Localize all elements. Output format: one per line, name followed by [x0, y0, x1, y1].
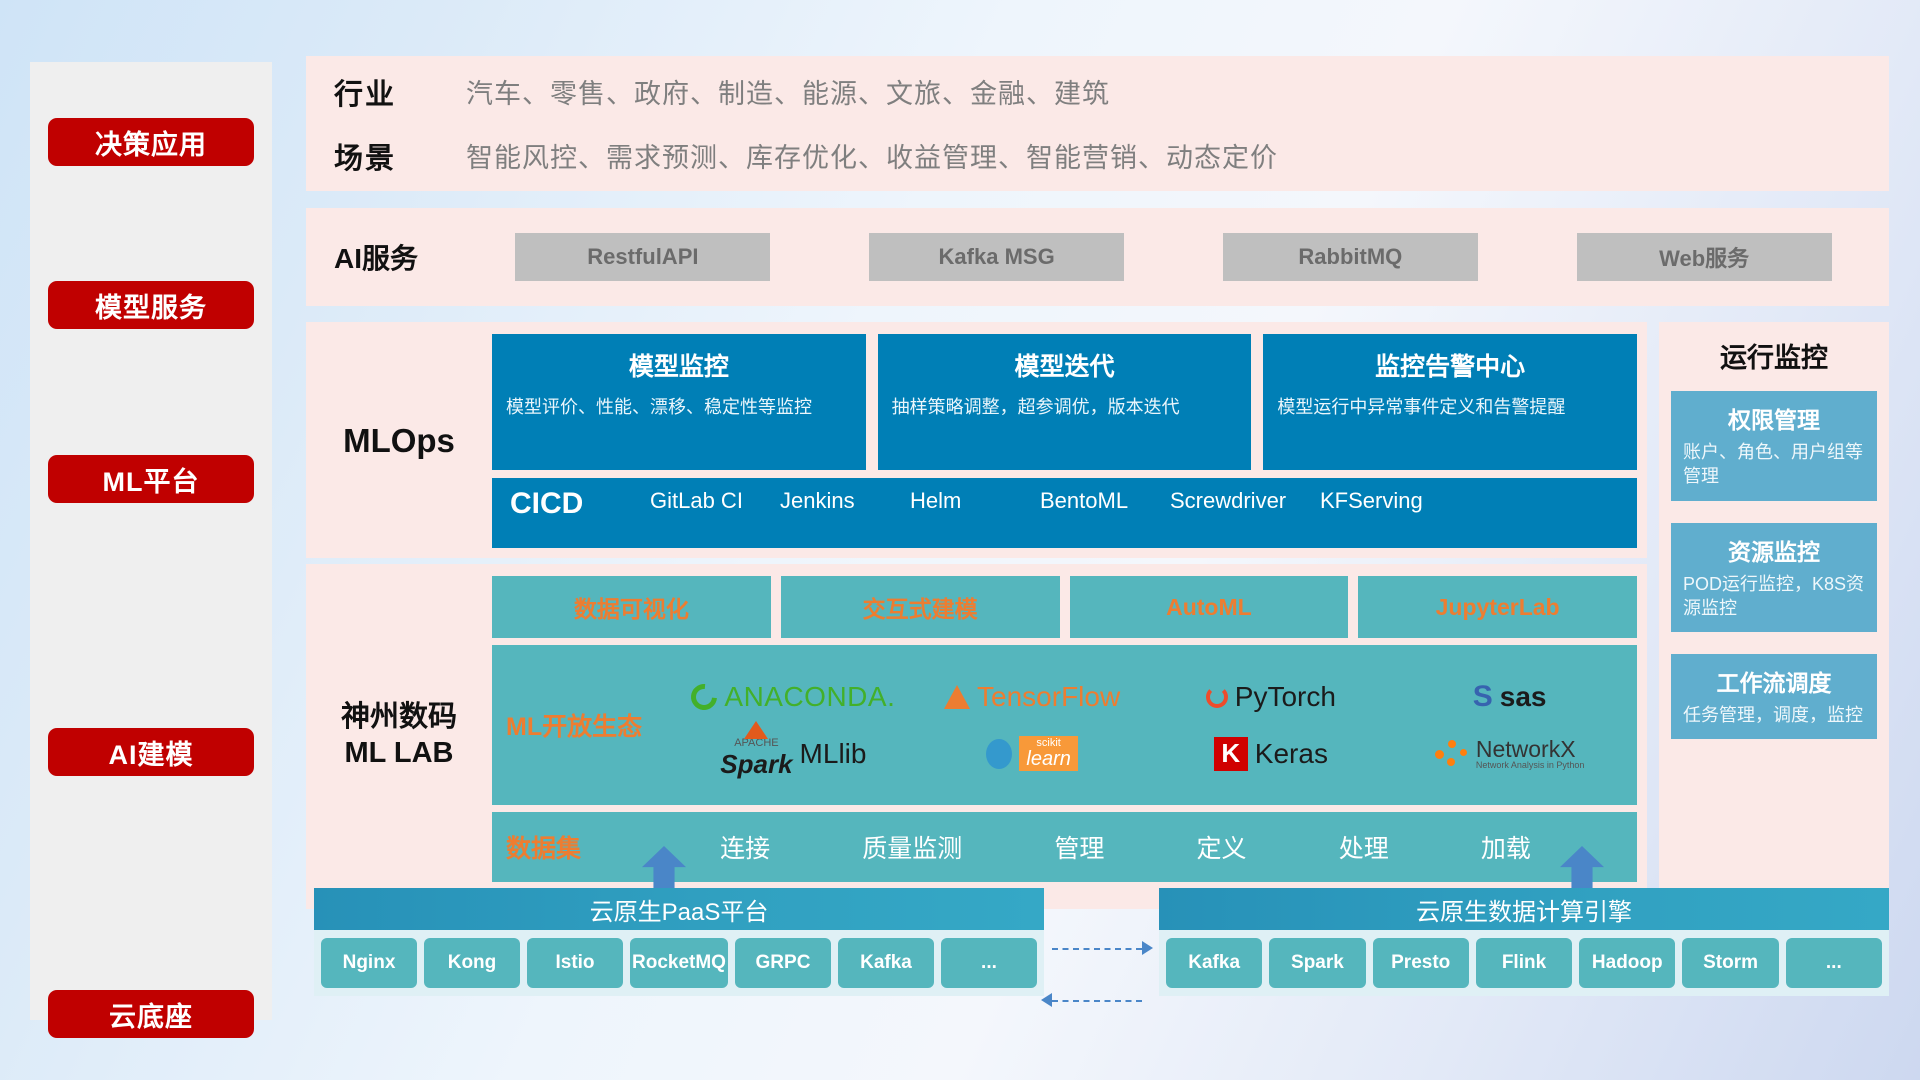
- spark-wordmark: APACHE Spark: [720, 727, 792, 780]
- monitor-card-resource[interactable]: 资源监控 POD运行监控，K8S资源监控: [1671, 523, 1877, 633]
- ml-ecosystem-panel: ML开放生态 ANACONDA. TensorFlow PyTorch: [492, 645, 1637, 805]
- monitor-card-desc: 任务管理，调度，监控: [1683, 703, 1865, 727]
- ml-lab-tab-automl[interactable]: AutoML: [1070, 576, 1349, 638]
- dataset-item-list: 连接 质量监测 管理 定义 处理 加载: [674, 829, 1637, 865]
- ml-lab-tab-data-visualization[interactable]: 数据可视化: [492, 576, 771, 638]
- rail-label-ml-platform[interactable]: ML平台: [48, 455, 254, 503]
- cloud-chip-kafka[interactable]: Kafka: [838, 938, 934, 988]
- dataset-label: 数据集: [506, 829, 674, 865]
- spark-mllib-logo: APACHE Spark MLlib: [720, 727, 866, 780]
- spark-star-icon: [744, 721, 768, 739]
- cicd-item-screwdriver[interactable]: Screwdriver: [1166, 488, 1316, 513]
- mlops-card-title: 监控告警中心: [1277, 347, 1623, 383]
- cloud-chip-kong[interactable]: Kong: [424, 938, 520, 988]
- mlops-card-title: 模型监控: [506, 347, 852, 383]
- engine-chip-storm[interactable]: Storm: [1682, 938, 1778, 988]
- keras-k-icon: K: [1214, 737, 1248, 771]
- ai-service-band: AI服务 RestfulAPI Kafka MSG RabbitMQ Web服务: [306, 208, 1889, 306]
- dataset-item-quality-monitor[interactable]: 质量监测: [862, 829, 962, 865]
- networkx-graph-icon: [1435, 740, 1469, 768]
- networkx-wordmark: NetworkX Network Analysis in Python: [1476, 738, 1585, 770]
- mlops-card-desc: 模型评价、性能、漂移、稳定性等监控: [506, 395, 852, 420]
- ai-service-chip-list: RestfulAPI Kafka MSG RabbitMQ Web服务: [466, 233, 1889, 281]
- engine-chip-flink[interactable]: Flink: [1476, 938, 1572, 988]
- left-rail: 决策应用 模型服务 ML平台 AI建模 云底座: [30, 62, 272, 1020]
- dataset-item-define[interactable]: 定义: [1197, 829, 1247, 865]
- ai-service-chip-restfulapi[interactable]: RestfulAPI: [515, 233, 770, 281]
- mlops-content: 模型监控 模型评价、性能、漂移、稳定性等监控 模型迭代 抽样策略调整，超参调优，…: [492, 334, 1637, 548]
- rail-label-cloud-base[interactable]: 云底座: [48, 990, 254, 1038]
- mlops-card-list: 模型监控 模型评价、性能、漂移、稳定性等监控 模型迭代 抽样策略调整，超参调优，…: [492, 334, 1637, 470]
- cloud-paas-chip-list: Nginx Kong Istio RocketMQ GRPC Kafka ...: [314, 930, 1044, 996]
- rail-label-model-service-text: 模型服务: [95, 286, 207, 325]
- anaconda-logo-text: ANACONDA.: [724, 681, 895, 713]
- keras-logo: K Keras: [1214, 737, 1328, 771]
- scenario-value: 智能风控、需求预测、库存优化、收益管理、智能营销、动态定价: [466, 136, 1278, 175]
- cicd-item-gitlab-ci[interactable]: GitLab CI: [646, 488, 776, 513]
- monitor-card-title: 资源监控: [1683, 533, 1865, 567]
- monitor-card-title: 权限管理: [1683, 401, 1865, 435]
- sas-logo: S sas: [1473, 680, 1547, 714]
- cicd-item-bentoml[interactable]: BentoML: [1036, 488, 1166, 513]
- networkx-logo: NetworkX Network Analysis in Python: [1435, 738, 1585, 770]
- anaconda-ring-icon: [686, 678, 723, 715]
- ml-ecosystem-label: ML开放生态: [506, 707, 674, 743]
- pytorch-logo-text: PyTorch: [1235, 681, 1336, 713]
- anaconda-logo: ANACONDA.: [691, 681, 895, 713]
- rail-label-cloud-base-text: 云底座: [109, 995, 193, 1034]
- monitor-card-workflow[interactable]: 工作流调度 任务管理，调度，监控: [1671, 654, 1877, 739]
- mlops-card-desc: 模型运行中异常事件定义和告警提醒: [1277, 395, 1623, 420]
- cloud-base-zone: 云原生PaaS平台 Nginx Kong Istio RocketMQ GRPC…: [306, 888, 1889, 1020]
- scenario-row: 场景 智能风控、需求预测、库存优化、收益管理、智能营销、动态定价: [334, 135, 1889, 177]
- rail-label-decision-text: 决策应用: [95, 123, 207, 162]
- industry-scenario-band: 行业 汽车、零售、政府、制造、能源、文旅、金融、建筑 场景 智能风控、需求预测、…: [306, 56, 1889, 191]
- dataset-item-process[interactable]: 处理: [1339, 829, 1389, 865]
- mlops-card-desc: 抽样策略调整，超参调优，版本迭代: [892, 395, 1238, 420]
- scikit-blob-icon: [986, 739, 1012, 769]
- cicd-title: CICD: [510, 488, 646, 520]
- dataset-item-manage[interactable]: 管理: [1054, 829, 1104, 865]
- ml-lab-tab-interactive-modeling[interactable]: 交互式建模: [781, 576, 1060, 638]
- pytorch-flame-icon: [1206, 686, 1228, 708]
- industry-key: 行业: [334, 71, 466, 113]
- mlops-label: MLOps: [306, 334, 492, 548]
- networkx-logo-text: NetworkX: [1476, 738, 1585, 761]
- sas-swirl-icon: S: [1473, 680, 1493, 714]
- runtime-monitor-panel: 运行监控 权限管理 账户、角色、用户组等管理 资源监控 POD运行监控，K8S资…: [1659, 322, 1889, 909]
- scikit-learn-logo: scikit learn: [986, 736, 1077, 771]
- industry-row: 行业 汽车、零售、政府、制造、能源、文旅、金融、建筑: [334, 71, 1889, 113]
- engine-chip-hadoop[interactable]: Hadoop: [1579, 938, 1675, 988]
- engine-chip-presto[interactable]: Presto: [1373, 938, 1469, 988]
- cloud-engine-chip-list: Kafka Spark Presto Flink Hadoop Storm ..…: [1159, 930, 1889, 996]
- dataset-item-load[interactable]: 加载: [1481, 829, 1531, 865]
- networkx-subtitle: Network Analysis in Python: [1476, 761, 1585, 770]
- cloud-paas-header: 云原生PaaS平台: [314, 888, 1044, 930]
- dataset-item-connect[interactable]: 连接: [720, 829, 770, 865]
- cloud-native-paas-block: 云原生PaaS平台 Nginx Kong Istio RocketMQ GRPC…: [314, 888, 1044, 1020]
- mlops-card-model-iteration[interactable]: 模型迭代 抽样策略调整，超参调优，版本迭代: [878, 334, 1252, 470]
- scenario-key: 场景: [334, 135, 466, 177]
- ml-lab-label-line1: 神州数码: [341, 700, 457, 735]
- monitor-card-desc: POD运行监控，K8S资源监控: [1683, 572, 1865, 621]
- industry-value: 汽车、零售、政府、制造、能源、文旅、金融、建筑: [466, 72, 1110, 111]
- scikit-learn-badge: scikit learn: [1019, 736, 1077, 771]
- cloud-native-data-engine-block: 云原生数据计算引擎 Kafka Spark Presto Flink Hadoo…: [1159, 888, 1889, 1020]
- rail-label-ai-modeling[interactable]: AI建模: [48, 728, 254, 776]
- ai-service-chip-web[interactable]: Web服务: [1577, 233, 1832, 281]
- ai-service-chip-rabbitmq[interactable]: RabbitMQ: [1223, 233, 1478, 281]
- ml-lab-label-line2: ML LAB: [344, 736, 453, 771]
- rail-label-model-service[interactable]: 模型服务: [48, 281, 254, 329]
- spark-logo-text: Spark: [720, 749, 792, 780]
- cloud-chip-istio[interactable]: Istio: [527, 938, 623, 988]
- tensorflow-logo-text: TensorFlow: [977, 681, 1120, 713]
- engine-chip-kafka[interactable]: Kafka: [1166, 938, 1262, 988]
- tensorflow-mark-icon: [944, 685, 970, 709]
- ml-ecosystem-logo-grid: ANACONDA. TensorFlow PyTorch S sas: [674, 670, 1629, 780]
- cloud-chip-rocketmq[interactable]: RocketMQ: [630, 938, 728, 988]
- mlops-band: MLOps 模型监控 模型评价、性能、漂移、稳定性等监控 模型迭代 抽样策略调整…: [306, 322, 1647, 558]
- keras-logo-text: Keras: [1255, 738, 1328, 770]
- cloud-engine-header: 云原生数据计算引擎: [1159, 888, 1889, 930]
- pytorch-logo: PyTorch: [1206, 681, 1336, 713]
- ml-lab-label: 神州数码 ML LAB: [306, 576, 492, 895]
- ml-lab-tab-jupyterlab[interactable]: JupyterLab: [1358, 576, 1637, 638]
- sas-logo-text: sas: [1500, 681, 1547, 713]
- rail-label-ml-platform-text: ML平台: [103, 460, 200, 499]
- mlops-card-alert-center[interactable]: 监控告警中心 模型运行中异常事件定义和告警提醒: [1263, 334, 1637, 470]
- rail-label-ai-modeling-text: AI建模: [109, 733, 194, 772]
- cicd-bar: CICD GitLab CI Jenkins Helm BentoML Scre…: [492, 478, 1637, 548]
- monitor-card-permission[interactable]: 权限管理 账户、角色、用户组等管理: [1671, 391, 1877, 501]
- monitor-card-title: 工作流调度: [1683, 664, 1865, 698]
- cicd-item-helm[interactable]: Helm: [906, 488, 1036, 513]
- runtime-monitor-title: 运行监控: [1671, 336, 1877, 375]
- ml-lab-band: 神州数码 ML LAB 数据可视化 交互式建模 AutoML JupyterLa…: [306, 564, 1647, 909]
- rail-label-decision[interactable]: 决策应用: [48, 118, 254, 166]
- mlops-card-title: 模型迭代: [892, 347, 1238, 383]
- mllib-logo-text: MLlib: [800, 738, 867, 770]
- scikit-learn-logo-text: learn: [1026, 749, 1070, 769]
- engine-chip-more[interactable]: ...: [1786, 938, 1882, 988]
- ml-lab-tab-list: 数据可视化 交互式建模 AutoML JupyterLab: [492, 576, 1637, 638]
- cloud-chip-more[interactable]: ...: [941, 938, 1037, 988]
- mlops-card-model-monitoring[interactable]: 模型监控 模型评价、性能、漂移、稳定性等监控: [492, 334, 866, 470]
- cloud-chip-nginx[interactable]: Nginx: [321, 938, 417, 988]
- monitor-card-desc: 账户、角色、用户组等管理: [1683, 440, 1865, 489]
- engine-chip-spark[interactable]: Spark: [1269, 938, 1365, 988]
- ai-service-label: AI服务: [334, 237, 466, 277]
- tensorflow-logo: TensorFlow: [944, 681, 1120, 713]
- cicd-item-kfserving[interactable]: KFServing: [1316, 488, 1466, 513]
- cloud-chip-grpc[interactable]: GRPC: [735, 938, 831, 988]
- cicd-item-jenkins[interactable]: Jenkins: [776, 488, 906, 513]
- ai-service-chip-kafka-msg[interactable]: Kafka MSG: [869, 233, 1124, 281]
